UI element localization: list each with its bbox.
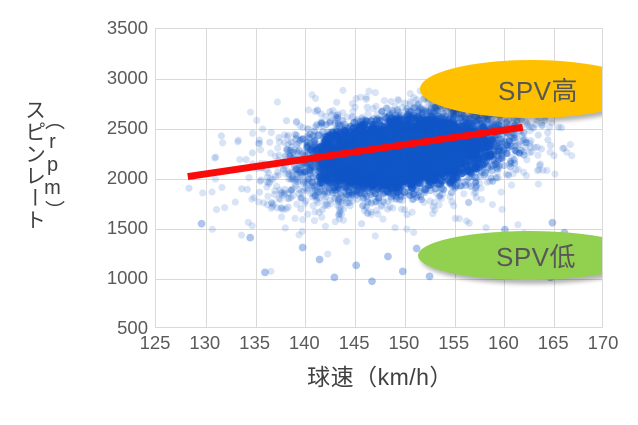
y-tick-label: 2500 <box>74 117 148 139</box>
y-tick-label: 2000 <box>74 167 148 189</box>
y-axis-tick-labels: 500100015002000250030003500 <box>74 0 148 425</box>
scatter-chart: スピンレート （rpm） 500100015002000250030003500… <box>0 0 638 425</box>
y-tick-label: 3500 <box>74 17 148 39</box>
y-tick-label: 1500 <box>74 217 148 239</box>
y-tick-label: 1000 <box>74 267 148 289</box>
y-tick-label: 3000 <box>74 67 148 89</box>
plot-area: SPV高 SPV低 <box>155 28 603 328</box>
y-axis-title-unit: （rpm） <box>43 110 63 221</box>
